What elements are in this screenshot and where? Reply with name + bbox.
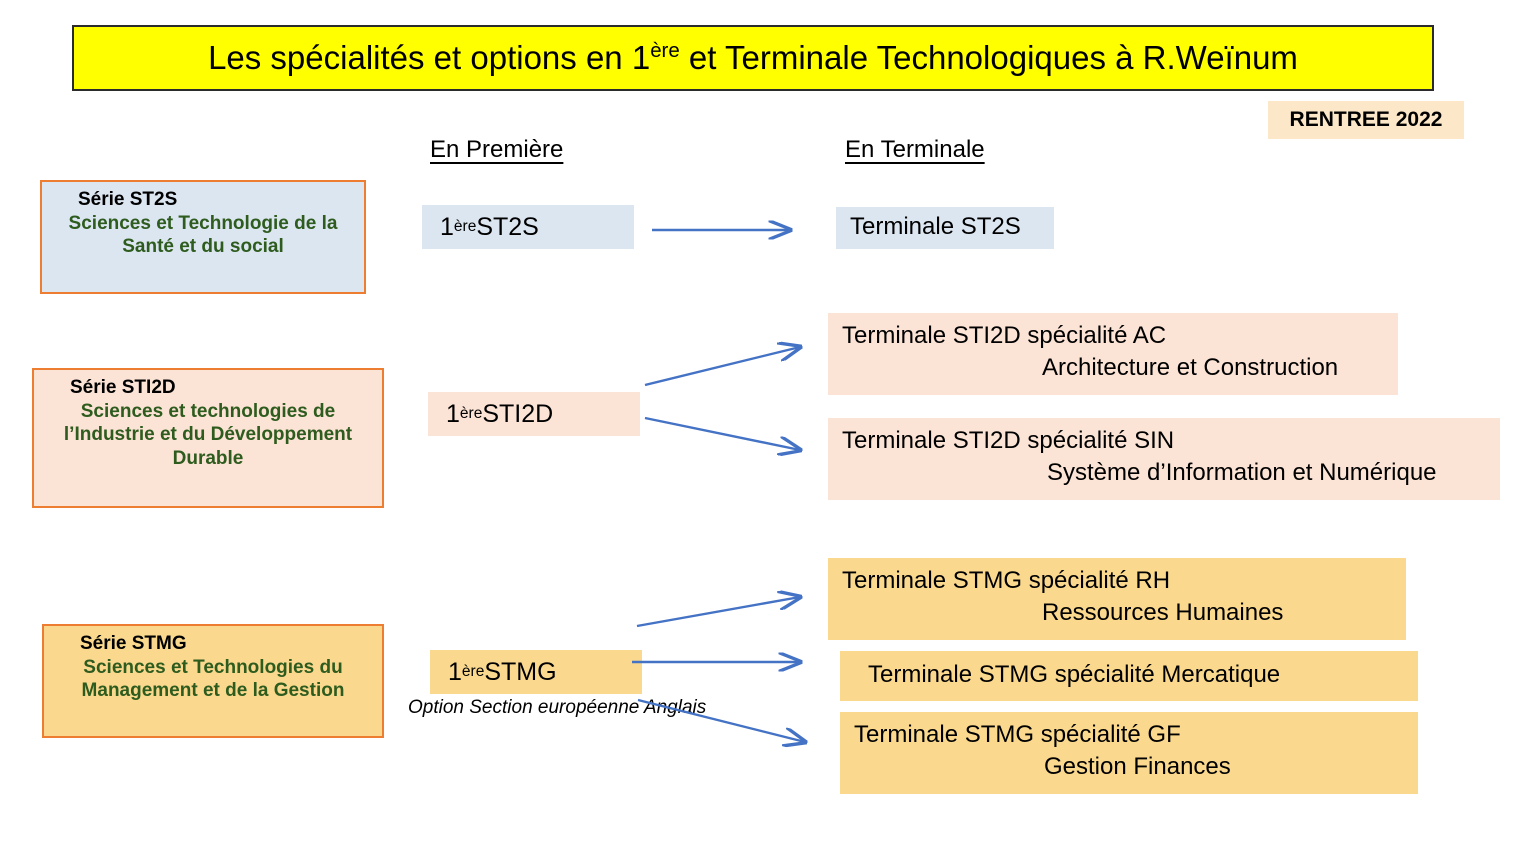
series-box-st2s: Série ST2S Sciences et Technologie de la… — [40, 180, 366, 294]
series-subtitle-stmg: Sciences et Technologies du Management e… — [52, 656, 374, 702]
terminale-stmg-rh-line2: Ressources Humaines — [842, 597, 1396, 629]
terminale-sti2d-sin-line1: Terminale STI2D spécialité SIN — [842, 425, 1490, 457]
arrow-sti2d-to-ac — [645, 347, 800, 385]
premiere-box-stmg: 1ère STMG — [430, 650, 642, 694]
terminale-sti2d-ac-line1: Terminale STI2D spécialité AC — [842, 320, 1388, 352]
series-subtitle-st2s: Sciences et Technologie de la Santé et d… — [50, 212, 356, 258]
series-title-stmg: Série STMG — [52, 632, 374, 655]
option-section-europeenne-note: Option Section européenne Anglais — [408, 697, 706, 719]
slide-canvas: Les spécialités et options en 1ère et Te… — [0, 0, 1536, 864]
title-prefix: Les spécialités et options en 1 — [208, 39, 650, 76]
column-header-terminale: En Terminale — [845, 136, 985, 164]
premiere-sti2d-prefix: 1 — [446, 400, 460, 429]
slide-title-banner: Les spécialités et options en 1ère et Te… — [72, 25, 1434, 91]
premiere-stmg-prefix: 1 — [448, 658, 462, 687]
arrow-sti2d-to-sin — [645, 418, 800, 450]
arrow-stmg-to-rh — [637, 597, 800, 626]
premiere-st2s-suffix: ST2S — [476, 213, 539, 242]
premiere-sti2d-suffix: STI2D — [482, 400, 553, 429]
premiere-stmg-suffix: STMG — [484, 658, 556, 687]
premiere-box-sti2d: 1ère STI2D — [428, 392, 640, 436]
terminale-st2s-line1: Terminale ST2S — [850, 211, 1044, 243]
terminale-box-stmg-gf: Terminale STMG spécialité GF Gestion Fin… — [840, 712, 1418, 794]
terminale-stmg-gf-line1: Terminale STMG spécialité GF — [854, 719, 1408, 751]
premiere-box-st2s: 1ère ST2S — [422, 205, 634, 249]
series-title-sti2d: Série STI2D — [42, 376, 374, 399]
column-header-premiere: En Première — [430, 136, 563, 164]
title-superscript: ère — [650, 39, 680, 62]
series-box-stmg: Série STMG Sciences et Technologies du M… — [42, 624, 384, 738]
terminale-box-stmg-mercatique: Terminale STMG spécialité Mercatique — [840, 651, 1418, 701]
terminale-sti2d-sin-line2: Système d’Information et Numérique — [842, 457, 1490, 489]
terminale-box-st2s: Terminale ST2S — [836, 207, 1054, 249]
title-suffix: et Terminale Technologiques à R.Weïnum — [680, 39, 1298, 76]
rentree-badge-label: RENTREE 2022 — [1290, 108, 1443, 132]
page-title: Les spécialités et options en 1ère et Te… — [208, 39, 1298, 77]
series-title-st2s: Série ST2S — [50, 188, 356, 211]
terminale-stmg-mercatique-line1: Terminale STMG spécialité Mercatique — [854, 659, 1408, 691]
terminale-box-sti2d-sin: Terminale STI2D spécialité SIN Système d… — [828, 418, 1500, 500]
terminale-stmg-gf-line2: Gestion Finances — [854, 751, 1408, 783]
terminale-box-sti2d-ac: Terminale STI2D spécialité AC Architectu… — [828, 313, 1398, 395]
terminale-box-stmg-rh: Terminale STMG spécialité RH Ressources … — [828, 558, 1406, 640]
terminale-sti2d-ac-line2: Architecture et Construction — [842, 352, 1388, 384]
premiere-st2s-prefix: 1 — [440, 213, 454, 242]
series-box-sti2d: Série STI2D Sciences et technologies de … — [32, 368, 384, 508]
rentree-badge: RENTREE 2022 — [1268, 101, 1464, 139]
series-subtitle-sti2d: Sciences et technologies de l’Industrie … — [42, 400, 374, 470]
terminale-stmg-rh-line1: Terminale STMG spécialité RH — [842, 565, 1396, 597]
